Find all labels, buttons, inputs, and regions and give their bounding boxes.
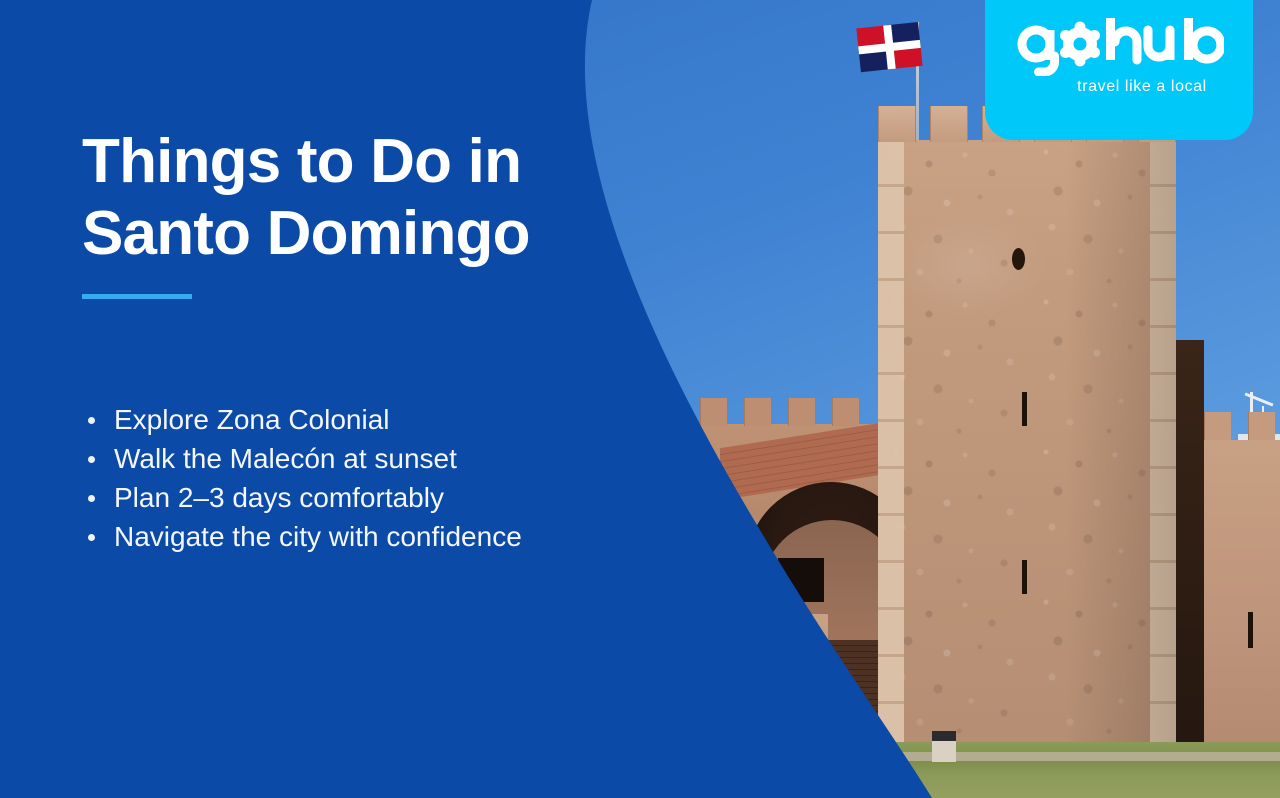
gohub-wordmark: travel like a local <box>985 16 1253 96</box>
accent-underline <box>82 294 192 299</box>
list-item: Explore Zona Colonial <box>82 400 522 439</box>
travel-banner: Things to Do in Santo Domingo Explore Zo… <box>0 0 1280 798</box>
gohub-logo-icon <box>1014 16 1224 76</box>
list-item: Navigate the city with confidence <box>82 517 522 556</box>
list-item: Plan 2–3 days comfortably <box>82 478 522 517</box>
highlights-list: Explore Zona Colonial Walk the Malecón a… <box>82 400 522 556</box>
list-item: Walk the Malecón at sunset <box>82 439 522 478</box>
gohub-logo-badge[interactable]: travel like a local <box>985 0 1253 140</box>
banner-content: Things to Do in Santo Domingo Explore Zo… <box>82 0 642 798</box>
page-title: Things to Do in Santo Domingo <box>82 126 530 270</box>
gohub-tagline: travel like a local <box>985 78 1253 96</box>
